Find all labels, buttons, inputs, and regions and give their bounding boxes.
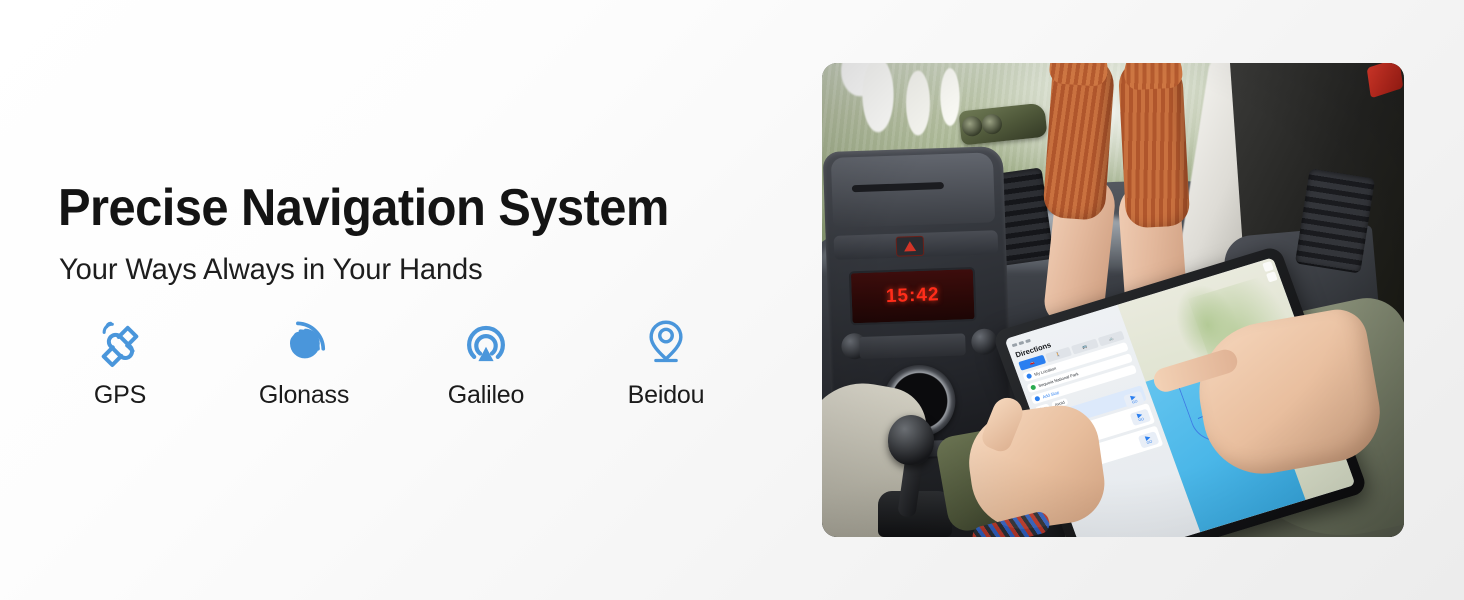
- gnss-label-galileo: Galileo: [416, 380, 556, 410]
- hero-photo: 15:42: [822, 63, 1404, 537]
- add-stop-icon: [1034, 396, 1040, 402]
- text-pane: Precise Navigation System Your Ways Alwa…: [58, 0, 778, 600]
- gnss-label-beidou: Beidou: [596, 380, 736, 410]
- car-interior-scene: 15:42: [822, 63, 1404, 537]
- route-3-go-label: GO: [1146, 440, 1153, 445]
- route-2-go-label: GO: [1138, 418, 1145, 423]
- stereo-display: 15:42: [849, 267, 977, 325]
- destination-dot-icon: [1030, 384, 1036, 390]
- add-stop-text: Add Stop: [1042, 390, 1060, 400]
- right-sock-toe: [1123, 63, 1183, 90]
- left-sock: [1042, 63, 1115, 221]
- gear-shifter-knob[interactable]: [888, 415, 934, 465]
- map-pin-icon: [596, 312, 736, 374]
- stereo-knob-right[interactable]: [971, 328, 998, 355]
- gnss-item-gps: GPS: [50, 312, 190, 422]
- battery-icon: [1025, 339, 1031, 343]
- globe-signal-icon: [234, 312, 374, 374]
- clock-readout: 15:42: [886, 284, 940, 308]
- gnss-item-beidou: Beidou: [596, 312, 736, 422]
- origin-dot-icon: [1026, 373, 1032, 379]
- signal-icon: [1012, 343, 1018, 347]
- page-subtitle: Your Ways Always in Your Hands: [59, 250, 483, 290]
- map-locate-button[interactable]: [1266, 271, 1278, 282]
- navigation-banner: Precise Navigation System Your Ways Alwa…: [0, 0, 1464, 600]
- satellite-icon: [50, 312, 190, 374]
- page-title: Precise Navigation System: [58, 178, 669, 238]
- antenna-signal-icon: [416, 312, 556, 374]
- gnss-label-gps: GPS: [50, 380, 190, 410]
- wifi-icon: [1018, 341, 1024, 345]
- gnss-item-glonass: Glonass: [234, 312, 374, 422]
- gnss-feature-row: GPS Glonass: [58, 312, 758, 422]
- hazard-light-button[interactable]: [896, 236, 925, 257]
- route-1-go-label: GO: [1132, 400, 1139, 405]
- map-layers-button[interactable]: [1262, 261, 1274, 272]
- origin-text: My Location: [1034, 366, 1057, 377]
- gnss-label-glonass: Glonass: [234, 380, 374, 410]
- gnss-item-galileo: Galileo: [416, 312, 556, 422]
- stereo-preset-buttons[interactable]: [859, 333, 966, 359]
